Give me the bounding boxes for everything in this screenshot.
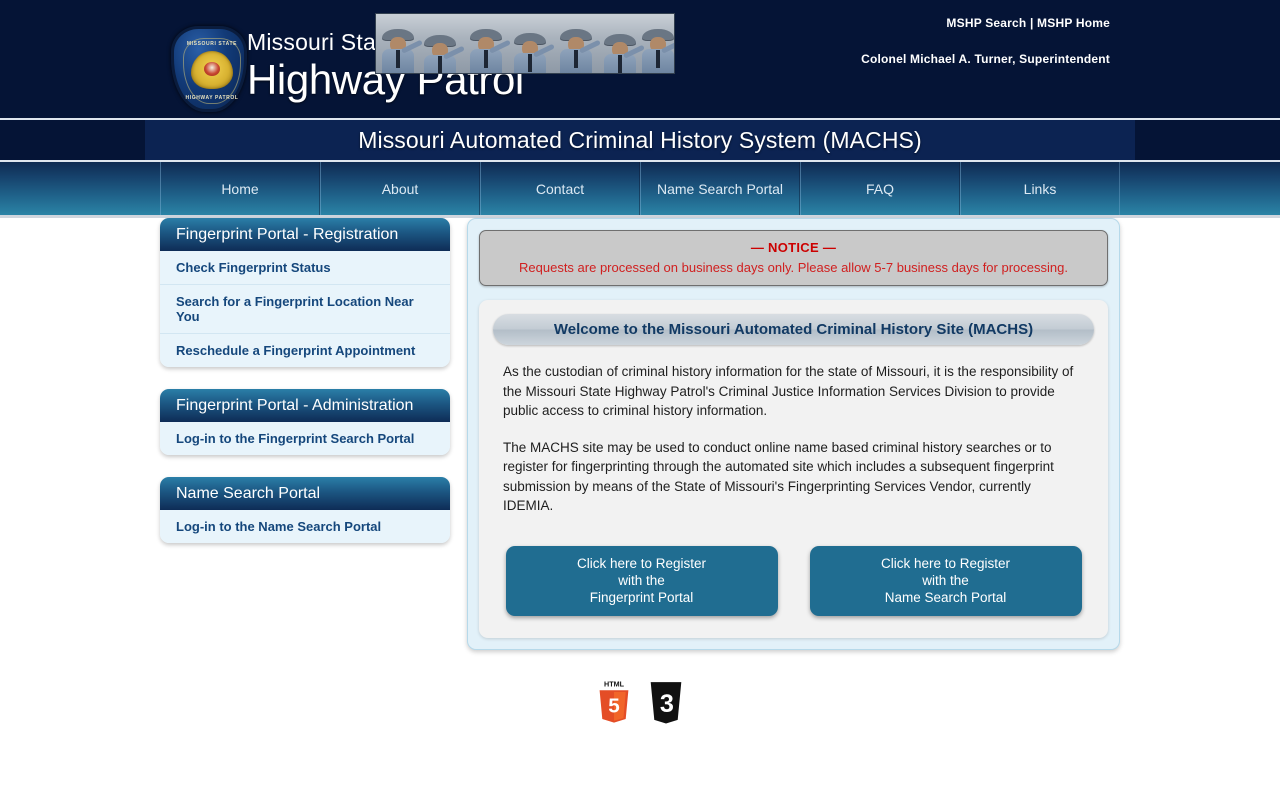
html5-badge-icon[interactable]: HTML 5 <box>596 678 632 724</box>
sidebar-panel-title: Fingerprint Portal - Administration <box>160 389 450 422</box>
welcome-card: Welcome to the Missouri Automated Crimin… <box>479 300 1108 638</box>
nav-item-links[interactable]: Links <box>960 162 1120 215</box>
header-quick-links[interactable]: MSHP Search | MSHP Home <box>946 16 1110 30</box>
register-name-search-portal-button[interactable]: Click here to Register with the Name Sea… <box>810 546 1082 616</box>
troopers-saluting-photo <box>375 13 675 74</box>
notice-text: Requests are processed on business days … <box>490 260 1097 275</box>
nav-item-name-search-portal[interactable]: Name Search Portal <box>640 162 800 215</box>
register-namesearch-line3: Name Search Portal <box>885 589 1007 606</box>
svg-text:3: 3 <box>660 690 674 718</box>
sidebar-panel: Name Search PortalLog-in to the Name Sea… <box>160 477 450 543</box>
register-button-row: Click here to Register with the Fingerpr… <box>493 546 1094 616</box>
svg-text:HTML: HTML <box>604 680 625 689</box>
nav-item-faq[interactable]: FAQ <box>800 162 960 215</box>
register-fingerprint-line1: Click here to Register <box>577 555 706 572</box>
main-navigation: HomeAboutContactName Search PortalFAQLin… <box>0 162 1280 218</box>
register-namesearch-line2: with the <box>922 572 969 589</box>
sidebar-link-check-fingerprint-status[interactable]: Check Fingerprint Status <box>160 251 450 285</box>
register-namesearch-line1: Click here to Register <box>881 555 1010 572</box>
site-header: MISSOURI STATE HIGHWAY PATROL Missouri S… <box>0 0 1280 118</box>
sidebar-link-log-in-to-the-fingerprint-search-portal[interactable]: Log-in to the Fingerprint Search Portal <box>160 422 450 455</box>
page-body: Fingerprint Portal - RegistrationCheck F… <box>0 218 1280 800</box>
sidebar-panel: Fingerprint Portal - AdministrationLog-i… <box>160 389 450 455</box>
notice-title: — NOTICE — <box>490 240 1097 255</box>
svg-text:5: 5 <box>608 695 620 718</box>
css3-badge-icon[interactable]: 3 <box>648 678 684 724</box>
nav-item-about[interactable]: About <box>320 162 480 215</box>
nav-item-contact[interactable]: Contact <box>480 162 640 215</box>
sidebar-link-search-for-a-fingerprint-location-near-you[interactable]: Search for a Fingerprint Location Near Y… <box>160 285 450 334</box>
register-fingerprint-line3: Fingerprint Portal <box>590 589 694 606</box>
badge-bottom-text: HIGHWAY PATROL <box>174 95 250 101</box>
sidebar-link-reschedule-a-fingerprint-appointment[interactable]: Reschedule a Fingerprint Appointment <box>160 334 450 367</box>
agency-name-line1: Missouri State <box>247 29 396 56</box>
system-title-band: Missouri Automated Criminal History Syst… <box>0 118 1280 162</box>
main-content-panel: — NOTICE — Requests are processed on bus… <box>467 218 1120 650</box>
sidebar-link-log-in-to-the-name-search-portal[interactable]: Log-in to the Name Search Portal <box>160 510 450 543</box>
intro-paragraph-1: As the custodian of criminal history inf… <box>503 362 1084 421</box>
register-fingerprint-portal-button[interactable]: Click here to Register with the Fingerpr… <box>506 546 778 616</box>
sidebar: Fingerprint Portal - RegistrationCheck F… <box>160 218 450 565</box>
notice-box: — NOTICE — Requests are processed on bus… <box>479 230 1108 286</box>
superintendent-label: Colonel Michael A. Turner, Superintenden… <box>861 52 1110 66</box>
register-fingerprint-line2: with the <box>618 572 665 589</box>
sidebar-panel-title: Fingerprint Portal - Registration <box>160 218 450 251</box>
nav-item-home[interactable]: Home <box>160 162 320 215</box>
mshp-badge-icon: MISSOURI STATE HIGHWAY PATROL <box>168 24 246 110</box>
welcome-heading: Welcome to the Missouri Automated Crimin… <box>493 314 1094 345</box>
page-title: Missouri Automated Criminal History Syst… <box>358 127 922 154</box>
footer-badges: HTML 5 3 <box>0 678 1280 724</box>
sidebar-panel-title: Name Search Portal <box>160 477 450 510</box>
intro-paragraph-2: The MACHS site may be used to conduct on… <box>503 438 1084 516</box>
sidebar-panel: Fingerprint Portal - RegistrationCheck F… <box>160 218 450 367</box>
badge-top-text: MISSOURI STATE <box>174 41 250 47</box>
